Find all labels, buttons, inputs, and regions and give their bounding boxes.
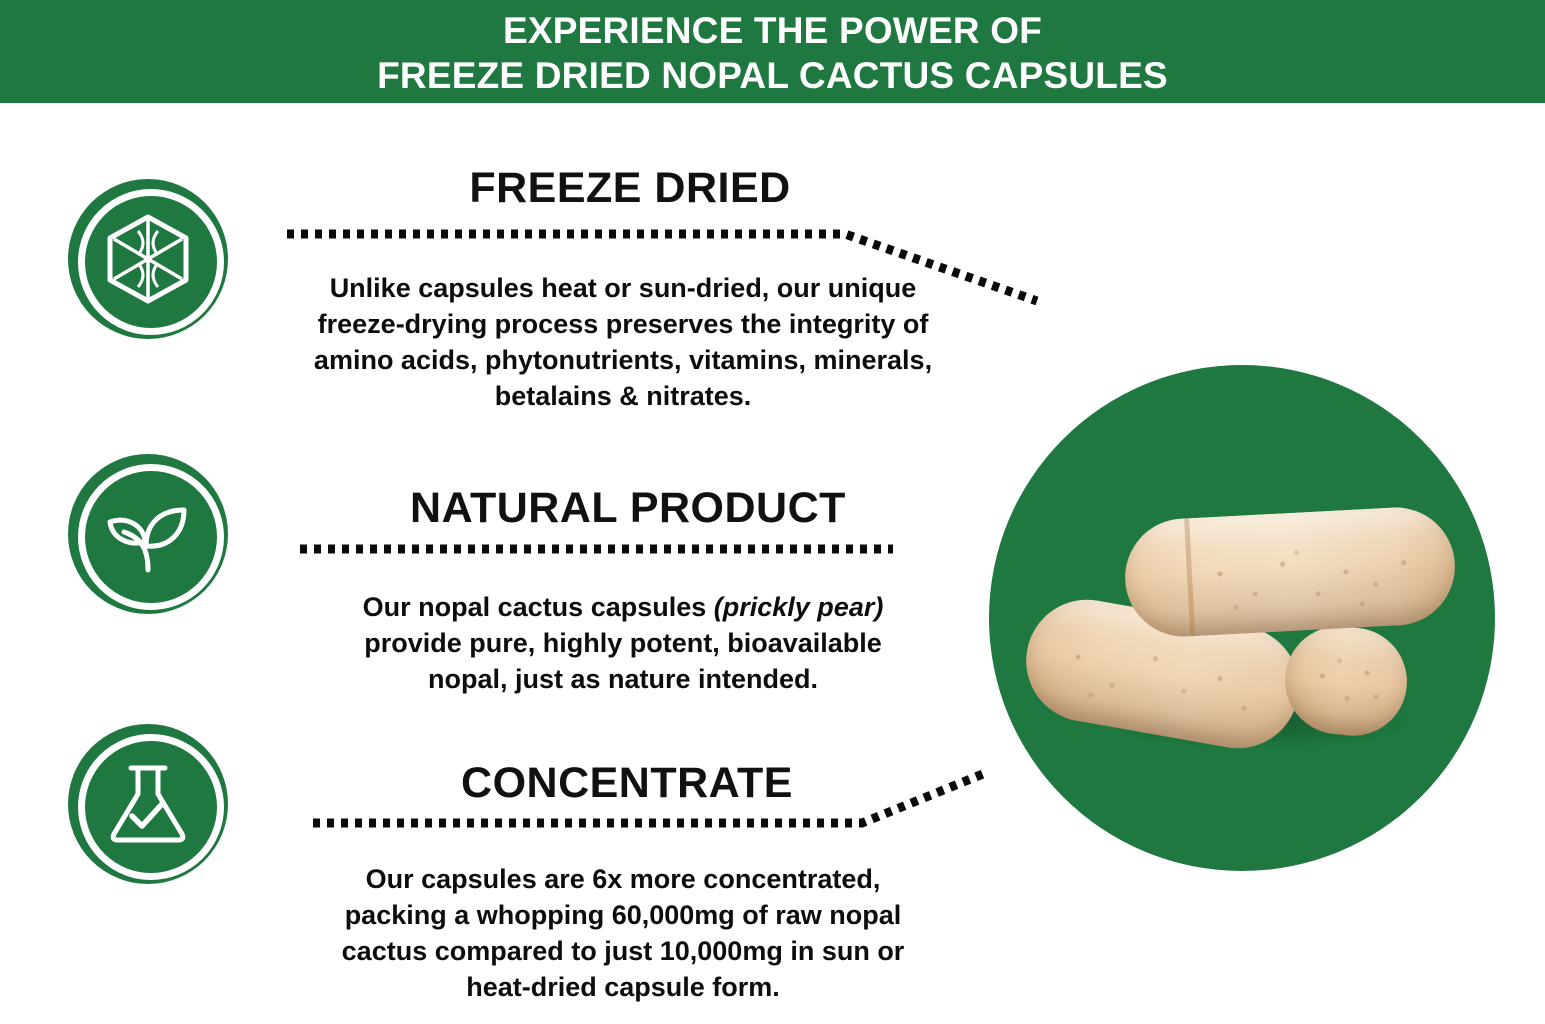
- body-line: provide pure, highly potent, bioavailabl…: [274, 625, 972, 661]
- ice-cube-icon: [98, 209, 198, 309]
- capsule-top: [1122, 504, 1458, 639]
- section-natural-product: NATURAL PRODUCT Our nopal cactus capsule…: [258, 483, 988, 697]
- main-content: FREEZE DRIED Unlike capsules heat or sun…: [0, 103, 1545, 1024]
- icon-badge-concentrate: [68, 724, 228, 884]
- icon-badge-natural-product: [68, 454, 228, 614]
- body-line-text: Our nopal cactus capsules: [363, 592, 714, 622]
- flask-check-icon: [98, 754, 198, 854]
- product-photo-circle: [989, 365, 1495, 871]
- section-concentrate: CONCENTRATE Our capsules are 6x more con…: [258, 758, 988, 1005]
- body-line-emphasis: (prickly pear): [714, 592, 884, 622]
- body-line: nopal, just as nature intended.: [274, 661, 972, 697]
- body-line: Unlike capsules heat or sun-dried, our u…: [272, 270, 974, 306]
- section-body-natural-product: Our nopal cactus capsules (prickly pear)…: [258, 589, 988, 697]
- section-heading-freeze-dried: FREEZE DRIED: [258, 163, 988, 213]
- body-line: Our nopal cactus capsules (prickly pear): [274, 589, 972, 625]
- section-heading-natural-product: NATURAL PRODUCT: [258, 483, 988, 533]
- body-line: amino acids, phytonutrients, vitamins, m…: [272, 342, 974, 378]
- section-freeze-dried: FREEZE DRIED Unlike capsules heat or sun…: [258, 163, 988, 414]
- body-line: cactus compared to just 10,000mg in sun …: [266, 933, 980, 969]
- body-line: Our capsules are 6x more concentrated,: [266, 861, 980, 897]
- section-body-freeze-dried: Unlike capsules heat or sun-dried, our u…: [258, 270, 988, 414]
- capsule-powder-texture: [1295, 640, 1398, 726]
- section-heading-concentrate: CONCENTRATE: [258, 758, 988, 808]
- capsule-powder-texture: [1037, 615, 1287, 739]
- body-line: betalains & nitrates.: [272, 378, 974, 414]
- header-title-line-2: FREEZE DRIED NOPAL CACTUS CAPSULES: [377, 53, 1168, 98]
- body-line: freeze-drying process preserves the inte…: [272, 306, 974, 342]
- header-banner: EXPERIENCE THE POWER OF FREEZE DRIED NOP…: [0, 0, 1545, 103]
- capsule-powder-texture: [1189, 532, 1435, 623]
- body-line: packing a whopping 60,000mg of raw nopal: [266, 897, 980, 933]
- icon-badge-freeze-dried: [68, 179, 228, 339]
- body-line: heat-dried capsule form.: [266, 969, 980, 1005]
- section-body-concentrate: Our capsules are 6x more concentrated, p…: [258, 861, 988, 1005]
- leaf-icon: [98, 484, 198, 584]
- header-title-line-1: EXPERIENCE THE POWER OF: [503, 8, 1042, 53]
